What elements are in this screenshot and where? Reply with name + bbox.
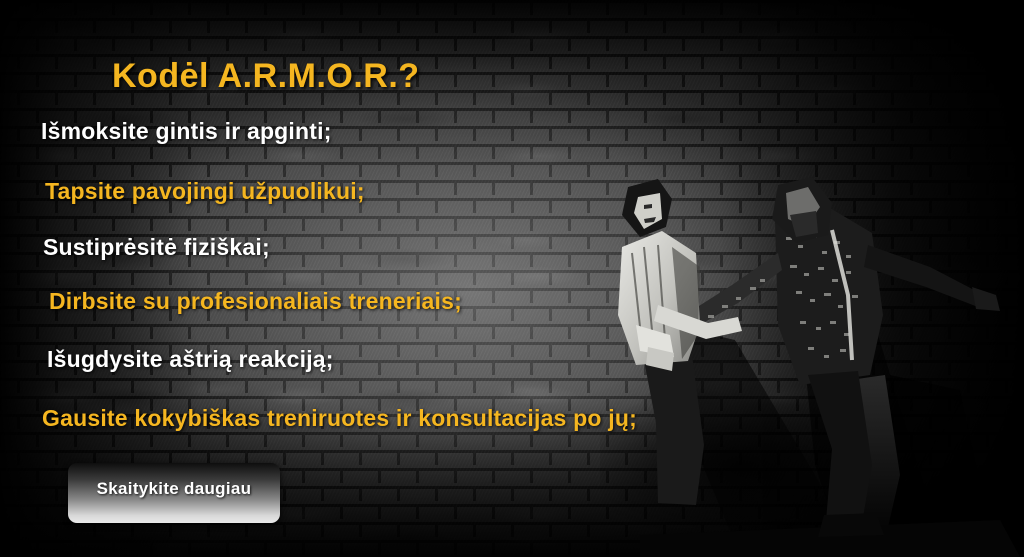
benefit-line-3: Sustiprėsitė fiziškai; — [43, 234, 270, 261]
benefit-line-6: Gausite kokybiškas treniruotes ir konsul… — [42, 405, 637, 432]
benefit-line-5: Išugdysite aštrią reakciją; — [47, 346, 334, 373]
read-more-button[interactable]: Skaitykite daugiau — [68, 463, 280, 523]
self-defense-demonstration-photo — [600, 175, 1024, 557]
benefit-line-1: Išmoksite gintis ir apginti; — [41, 118, 332, 145]
promo-banner: Kodėl A.R.M.O.R.? Išmoksite gintis ir ap… — [0, 0, 1024, 557]
benefit-line-4: Dirbsite su profesionaliais treneriais; — [49, 288, 462, 315]
read-more-button-label: Skaitykite daugiau — [68, 479, 280, 499]
page-title: Kodėl A.R.M.O.R.? — [112, 57, 420, 96]
benefit-line-2: Tapsite pavojingi užpuolikui; — [45, 178, 365, 205]
